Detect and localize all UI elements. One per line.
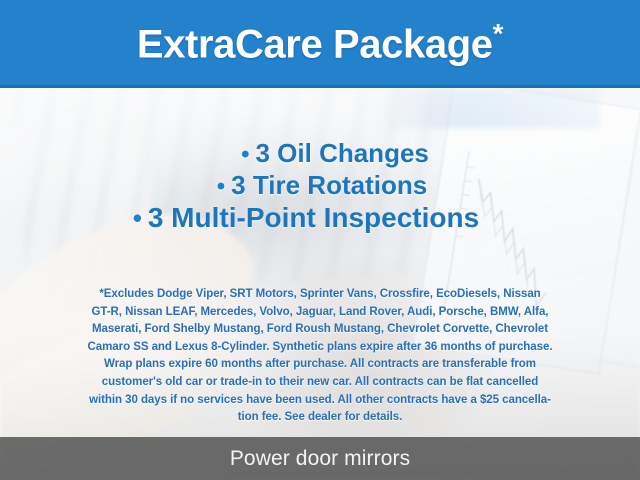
promo-banner: ExtraCare Package* — [0, 0, 640, 88]
benefit-label: 3 Tire Rotations — [231, 170, 427, 200]
page-title-text: ExtraCare Package — [137, 23, 493, 67]
list-item: •3 Multi-Point Inspections — [0, 201, 640, 235]
fine-print-line: Camaro SS and Lexus 8-Cylinder. Syntheti… — [28, 339, 612, 357]
bullet-dot-icon: • — [241, 141, 249, 168]
fine-print-line: Maserati, Ford Shelby Mustang, Ford Rous… — [28, 321, 612, 339]
bullet-dot-icon: • — [133, 205, 142, 233]
benefit-label: 3 Multi-Point Inspections — [148, 202, 479, 233]
page-title: ExtraCare Package* — [137, 20, 503, 64]
extracare-promo-slide: ExtraCare Package* •3 Oil Changes •3 Tir… — [0, 0, 640, 480]
fine-print-line: tion fee. See dealer for details. — [28, 409, 612, 427]
image-caption-bar: Power door mirrors — [0, 437, 640, 480]
fine-print-line: within 30 days if no services have been … — [28, 392, 612, 410]
benefit-label: 3 Oil Changes — [255, 138, 428, 168]
fine-print-line: Wrap plans expire 60 months after purcha… — [28, 356, 612, 374]
list-item: •3 Tire Rotations — [0, 170, 640, 202]
asterisk-marker: * — [493, 18, 504, 49]
bullet-dot-icon: • — [217, 173, 225, 200]
fine-print-line: *Excludes Dodge Viper, SRT Motors, Sprin… — [28, 286, 612, 304]
fine-print-line: GT-R, Nissan LEAF, Mercedes, Volvo, Jagu… — [28, 304, 612, 322]
fine-print-disclaimer: *Excludes Dodge Viper, SRT Motors, Sprin… — [28, 286, 612, 427]
benefits-list: •3 Oil Changes •3 Tire Rotations •3 Mult… — [0, 138, 640, 236]
fine-print-line: customer's old car or trade-in to their … — [28, 374, 612, 392]
image-caption-text: Power door mirrors — [230, 448, 410, 469]
list-item: •3 Oil Changes — [0, 138, 640, 170]
